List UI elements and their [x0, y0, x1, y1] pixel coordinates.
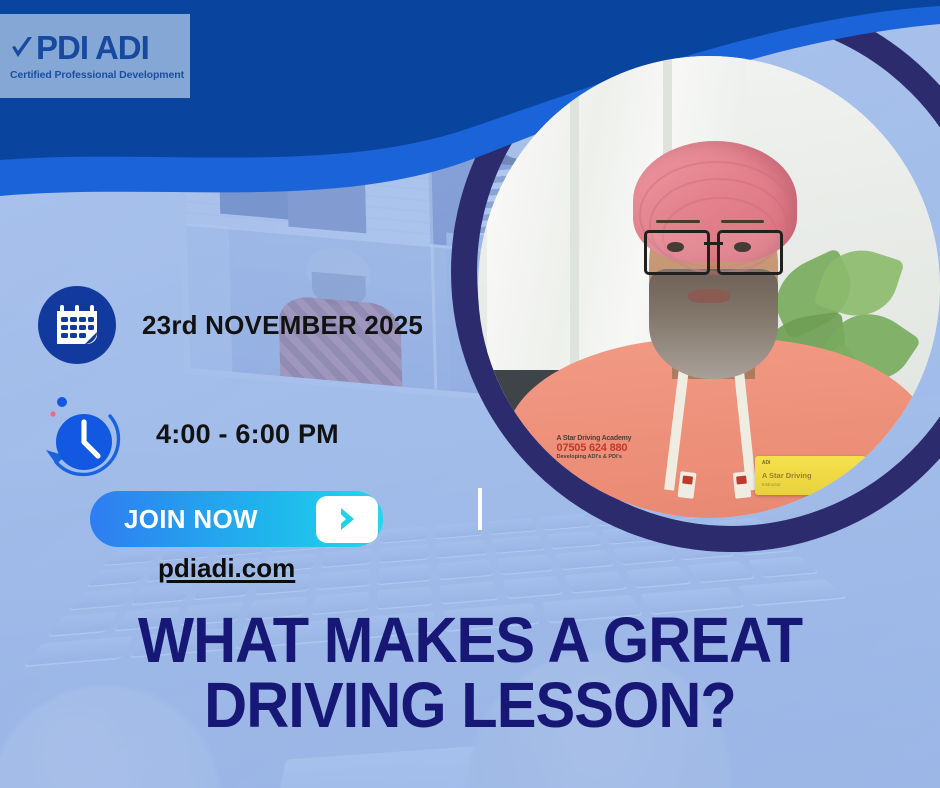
logo-name: PDI ADI [36, 31, 149, 64]
calendar-icon [38, 286, 116, 364]
event-date-text: 23rd NOVEMBER 2025 [142, 310, 423, 341]
window-mullion [570, 56, 579, 398]
event-time-text: 4:00 - 6:00 PM [156, 419, 339, 450]
shirt-embroidery: A Star Driving Academy 07505 624 880 Dev… [557, 435, 691, 490]
chevron-right-glyph [332, 504, 362, 534]
embroidery-line-3: Developing ADI's & PDI's [557, 454, 691, 460]
lens-right [717, 230, 783, 275]
mouth [688, 289, 730, 303]
embroidery-line-2: 07505 624 880 [557, 442, 691, 454]
eyebrow-right [721, 220, 765, 224]
badge-line-3: Instructor [762, 482, 781, 487]
name-badge: ADI A Star Driving Instructor [755, 456, 866, 495]
event-date-row: 23rd NOVEMBER 2025 [38, 286, 423, 364]
eyebrow-left [656, 220, 700, 224]
clock-glyph [34, 386, 130, 482]
headline-line-1: WHAT MAKES A GREAT [138, 604, 802, 676]
clock-icon [34, 386, 130, 482]
badge-line-1: ADI [762, 460, 771, 466]
headline: WHAT MAKES A GREAT DRIVING LESSON? [33, 608, 907, 739]
calendar-glyph [54, 302, 100, 348]
website-link[interactable]: pdiadi.com [158, 553, 295, 584]
logo-tagline: Certified Professional Development [10, 69, 190, 81]
embroidery-line-1: A Star Driving Academy [557, 435, 691, 442]
check-icon [10, 35, 34, 61]
lens-left [644, 230, 710, 275]
lanyard-tag-right [733, 471, 752, 499]
join-now-button[interactable]: JOIN NOW [90, 491, 383, 547]
beard [649, 269, 778, 380]
instructor-portrait: A Star Driving Academy 07505 624 880 Dev… [478, 56, 940, 518]
glasses-bridge [704, 242, 723, 245]
chevron-right-icon[interactable] [316, 496, 378, 543]
event-time-row: 4:00 - 6:00 PM [34, 386, 339, 482]
join-now-label: JOIN NOW [124, 504, 258, 535]
poster-canvas: PDI ADI Certified Professional Developme… [0, 0, 940, 788]
badge-line-2: A Star Driving [762, 471, 812, 480]
brand-logo: PDI ADI Certified Professional Developme… [0, 14, 190, 98]
logo-wordmark-row: PDI ADI [10, 31, 190, 64]
eyeglasses [644, 230, 783, 269]
headline-line-2: DRIVING LESSON? [33, 673, 907, 738]
